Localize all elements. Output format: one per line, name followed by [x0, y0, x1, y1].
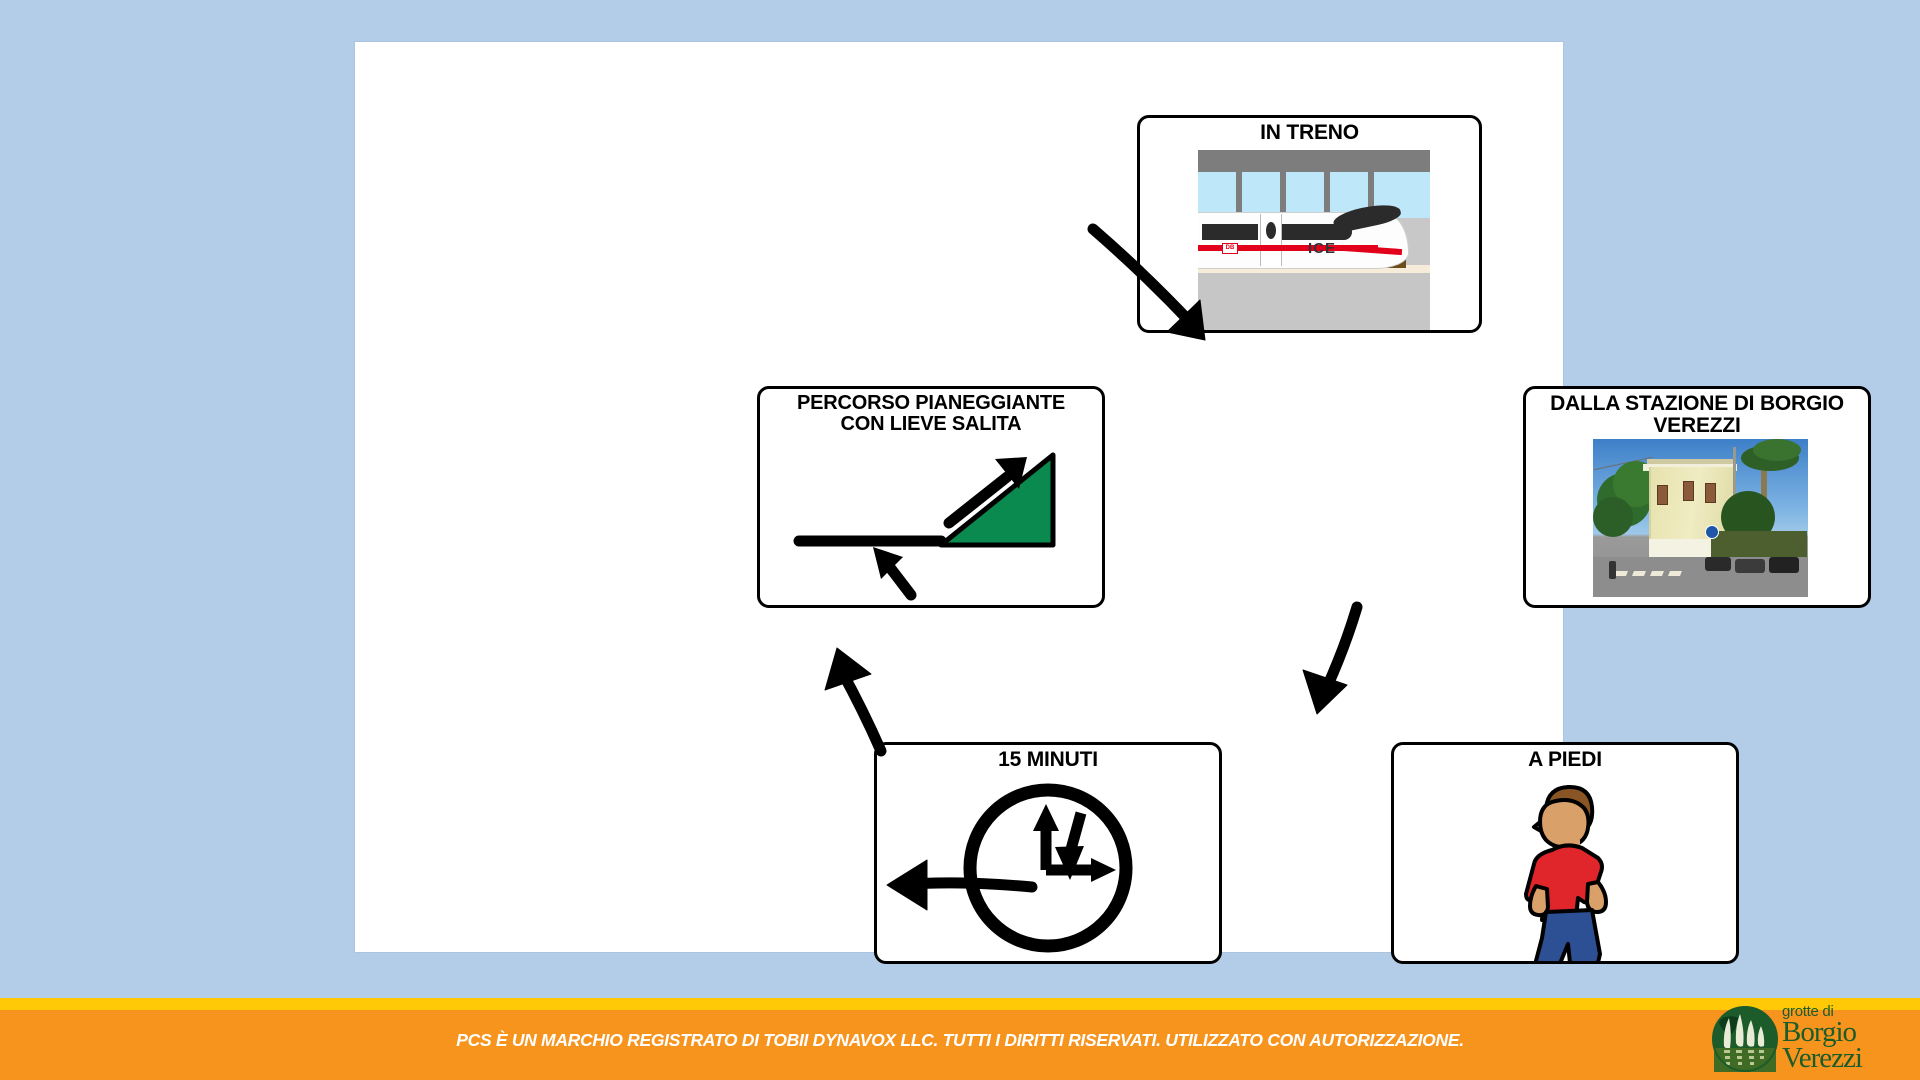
- cave-circle-icon: [1712, 1006, 1778, 1072]
- card-title-in-treno: IN TRENO: [1140, 118, 1479, 144]
- pedestrian: [1609, 561, 1616, 579]
- card-title-a-piedi: A PIEDI: [1394, 745, 1736, 771]
- logo[interactable]: grotte di Borgio Verezzi: [1712, 1000, 1912, 1078]
- card-15-minuti[interactable]: 15 MINUTI: [874, 742, 1222, 964]
- crosswalk-stripe: [1650, 571, 1664, 576]
- card-a-piedi[interactable]: A PIEDI: [1391, 742, 1739, 964]
- train-window-strip: [1282, 224, 1352, 240]
- footer-trademark-notice: PCS È UN MARCHIO REGISTRATO DI TOBII DYN…: [0, 1030, 1920, 1051]
- road-sign-icon: [1705, 525, 1719, 539]
- shutter-window: [1705, 483, 1716, 503]
- logo-line-verezzi: Verezzi: [1782, 1045, 1912, 1071]
- tree: [1593, 497, 1633, 537]
- station-roof: [1198, 150, 1430, 172]
- parked-vehicle: [1705, 557, 1731, 571]
- footer-accent-band: [0, 998, 1920, 1010]
- card-in-treno[interactable]: IN TRENO DB ICE: [1137, 115, 1482, 333]
- card-percorso[interactable]: PERCORSO PIANEGGIANTE CON LIEVE SALITA: [757, 386, 1105, 608]
- train-photo: DB ICE: [1198, 150, 1430, 333]
- station-photo: [1593, 439, 1808, 597]
- walking-person-icon: [1394, 773, 1736, 964]
- shutter-window: [1657, 485, 1668, 505]
- crosswalk-stripe: [1668, 571, 1682, 576]
- platform-ground: [1198, 272, 1430, 333]
- crosswalk-stripe: [1614, 571, 1628, 576]
- logo-text: grotte di Borgio Verezzi: [1782, 1004, 1912, 1071]
- arrow-minuti-to-percorso: [825, 648, 881, 751]
- card-title-15-minuti: 15 MINUTI: [877, 745, 1219, 771]
- palm-fronds: [1753, 439, 1801, 461]
- parked-vehicle: [1769, 557, 1799, 573]
- crosswalk-stripe: [1632, 571, 1646, 576]
- card-title-dalla-stazione: DALLA STAZIONE DI BORGIO VEREZZI: [1526, 389, 1868, 437]
- card-dalla-stazione[interactable]: DALLA STAZIONE DI BORGIO VEREZZI: [1523, 386, 1871, 608]
- shutter-window: [1683, 481, 1694, 501]
- parked-vehicle: [1735, 559, 1765, 573]
- slide-panel: IN TRENO DB ICE DALLA STAZIONE DI BORGIO…: [355, 42, 1563, 952]
- db-logo-badge: DB: [1222, 243, 1238, 254]
- slope-icon: [760, 433, 1102, 608]
- arrow-stazione-to-piedi: [1303, 607, 1357, 714]
- card-title-percorso: PERCORSO PIANEGGIANTE CON LIEVE SALITA: [760, 389, 1102, 435]
- clock-icon: [877, 771, 1219, 964]
- train-window-strip: [1202, 224, 1258, 240]
- train-door-window: [1266, 222, 1276, 239]
- ice-label: ICE: [1308, 240, 1336, 257]
